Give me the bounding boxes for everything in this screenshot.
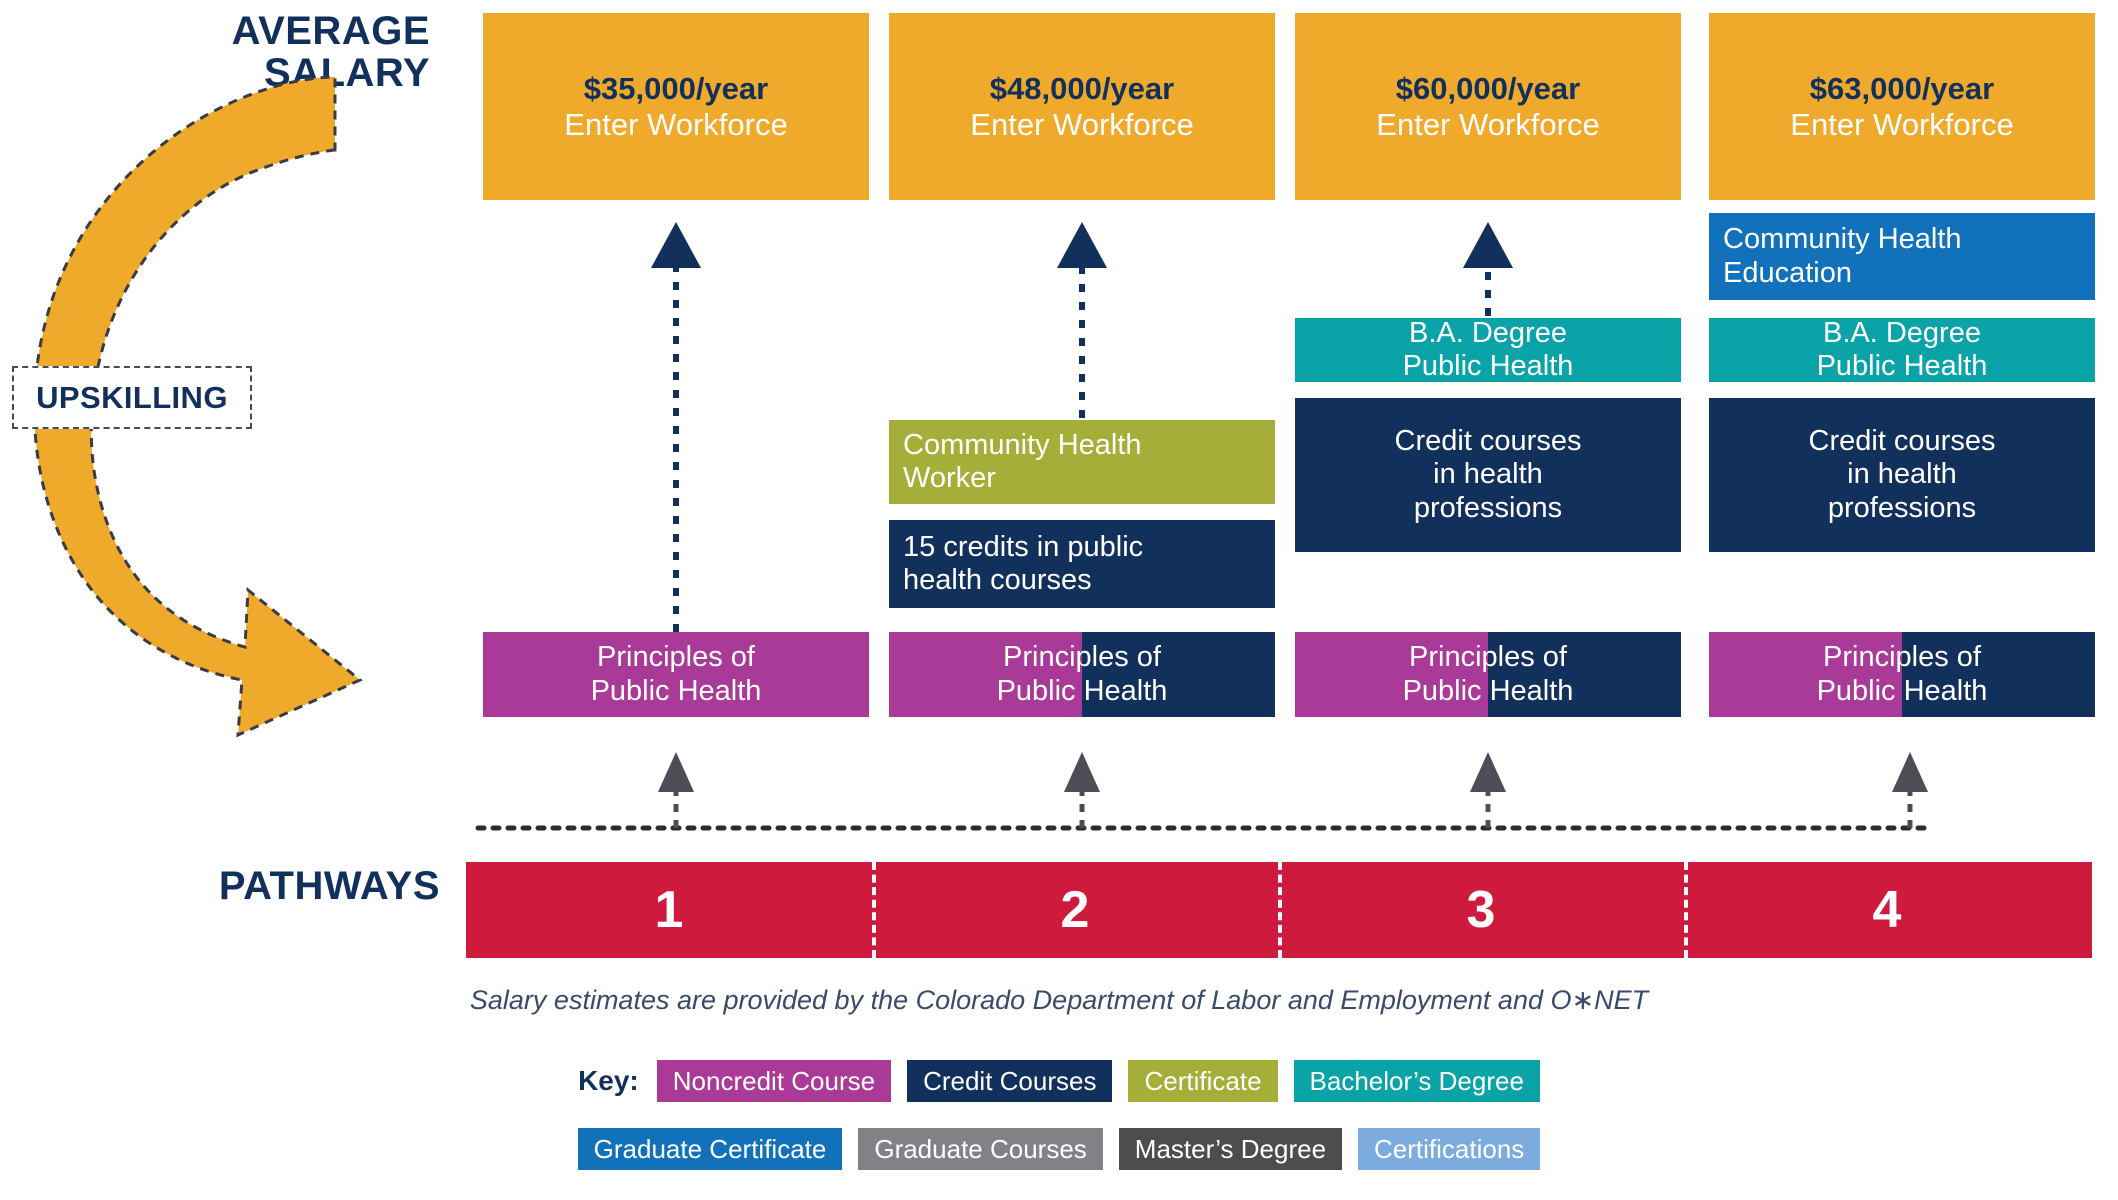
upskilling-badge: UPSKILLING — [12, 366, 252, 429]
grey-connector-4 — [1892, 752, 1928, 828]
upskilling-arrow — [0, 55, 430, 625]
navy-arrow-col2 — [1057, 222, 1107, 418]
infographic-canvas: AVERAGE SALARY UPSKILLING PATHWAYS — [0, 0, 2118, 1200]
grey-connector-1 — [658, 752, 694, 828]
grey-connector-3 — [1470, 752, 1506, 828]
upskilling-label: UPSKILLING — [36, 380, 228, 416]
grey-connector-2 — [1064, 752, 1100, 828]
navy-arrow-col3 — [1463, 222, 1513, 316]
navy-arrow-col1 — [651, 222, 701, 632]
